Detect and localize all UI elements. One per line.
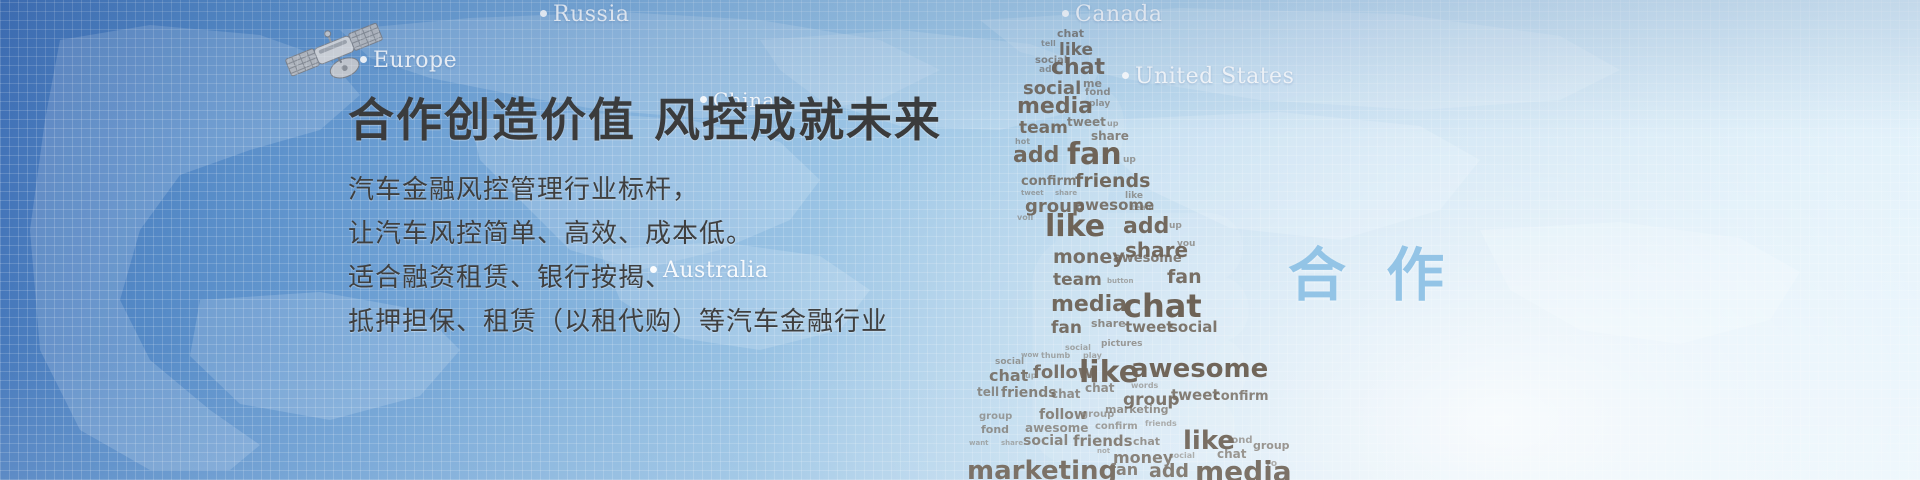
word-cloud-word: social	[1169, 320, 1218, 335]
word-cloud-word: team	[1053, 272, 1102, 289]
word-cloud-word: chat	[1051, 57, 1105, 79]
word-cloud-word: tweet	[1067, 116, 1106, 128]
word-cloud-word: play	[1089, 100, 1110, 109]
word-cloud-word: you	[1177, 240, 1195, 249]
word-cloud-word: add	[1123, 216, 1169, 238]
word-cloud-word: chat	[1085, 382, 1115, 394]
word-cloud-word: share	[1001, 440, 1023, 447]
word-cloud-word: friends	[1145, 420, 1177, 428]
word-cloud-word: fan	[1067, 140, 1122, 170]
word-cloud-word: team	[1019, 120, 1068, 137]
map-label: Russia	[540, 2, 629, 27]
word-cloud-word: awesome	[1131, 356, 1268, 382]
word-cloud-word: not	[1097, 448, 1110, 455]
word-cloud-word: marketing	[967, 458, 1117, 480]
word-cloud-word: friends	[1075, 172, 1150, 191]
word-cloud-word: group	[1253, 440, 1290, 451]
word-cloud-word: social	[1169, 452, 1195, 460]
word-cloud-word: media	[1195, 458, 1292, 480]
word-cloud-word: chat	[1133, 436, 1160, 447]
word-cloud-word: wow	[1021, 352, 1039, 359]
word-cloud-word: chat	[989, 368, 1028, 384]
word-cloud-word: want	[969, 440, 989, 447]
word-cloud-word: up	[1169, 222, 1182, 231]
word-cloud-word: like	[1045, 212, 1105, 242]
hero-subtitle-line: 适合融资租赁、银行按揭、	[348, 256, 968, 300]
word-cloud-word: confirm	[1021, 175, 1077, 188]
word-cloud-word: add	[1013, 145, 1059, 167]
word-cloud-word: fond	[1227, 436, 1253, 446]
word-cloud-word: yo	[1265, 460, 1277, 469]
word-cloud-word: group	[979, 412, 1012, 422]
word-cloud-word: awesome	[1113, 252, 1182, 265]
hero-banner: RussiaEuropeCanadaUnited StatesChinaAust…	[0, 0, 1920, 480]
map-label-text: Russia	[553, 2, 629, 27]
hero-subtitle-line: 抵押担保、租赁（以租代购）等汽车金融行业	[348, 300, 968, 344]
word-cloud-word: fan	[1109, 462, 1138, 478]
word-cloud-word: words	[1131, 382, 1158, 390]
word-cloud-word: media	[1051, 294, 1127, 316]
word-cloud-word: team	[1131, 204, 1154, 212]
page-title: 合作创造价值 风控成就未来	[348, 96, 968, 146]
word-cloud-word: pictures	[1101, 340, 1142, 349]
word-cloud-word: button	[1107, 278, 1133, 285]
word-cloud-word: fan	[1167, 268, 1202, 287]
map-marker-dot	[360, 56, 367, 63]
word-cloud-word: group	[1081, 410, 1114, 420]
map-label-text: Europe	[373, 48, 457, 73]
cooperation-watermark: 合 作	[1288, 228, 1454, 312]
word-cloud-word: follow	[1039, 408, 1087, 422]
word-cloud-word: confirm	[1213, 390, 1269, 403]
word-cloud-word: social	[1023, 434, 1068, 448]
word-cloud-word: up	[1107, 120, 1118, 128]
word-cloud-word: friends	[1001, 386, 1057, 400]
word-cloud-word: confirm	[1095, 422, 1138, 432]
word-cloud-word: thumb	[1041, 352, 1070, 360]
word-cloud-word: chat	[1057, 28, 1084, 39]
word-cloud-word: tell	[1041, 40, 1056, 48]
word-cloud-word: fond	[981, 424, 1009, 435]
word-cloud-word: like	[1125, 192, 1143, 201]
word-cloud-word: marketing	[1105, 404, 1169, 415]
hero-subtitle-list: 汽车金融风控管理行业标杆，让汽车风控简单、高效、成本低。适合融资租赁、银行按揭、…	[348, 168, 968, 344]
hero-subtitle-line: 让汽车风控简单、高效、成本低。	[348, 212, 968, 256]
word-cloud: chattelllikesocialaddchatsocialmefondmed…	[955, 0, 1285, 480]
word-cloud-word: tell	[977, 386, 999, 398]
word-cloud-word: fan	[1051, 320, 1082, 337]
word-cloud-word: up	[1123, 156, 1136, 165]
word-cloud-word: add	[1149, 462, 1189, 480]
hero-subtitle-line: 汽车金融风控管理行业标杆，	[348, 168, 968, 212]
map-marker-dot	[540, 10, 547, 17]
hero-text-block: 合作创造价值 风控成就未来 汽车金融风控管理行业标杆，让汽车风控简单、高效、成本…	[348, 96, 968, 344]
word-cloud-word: chat	[1051, 388, 1081, 400]
word-cloud-word: share	[1091, 318, 1126, 329]
word-cloud-word: tweet	[1125, 320, 1174, 335]
map-label: Europe	[360, 48, 457, 73]
word-cloud-word: voll	[1017, 214, 1033, 222]
